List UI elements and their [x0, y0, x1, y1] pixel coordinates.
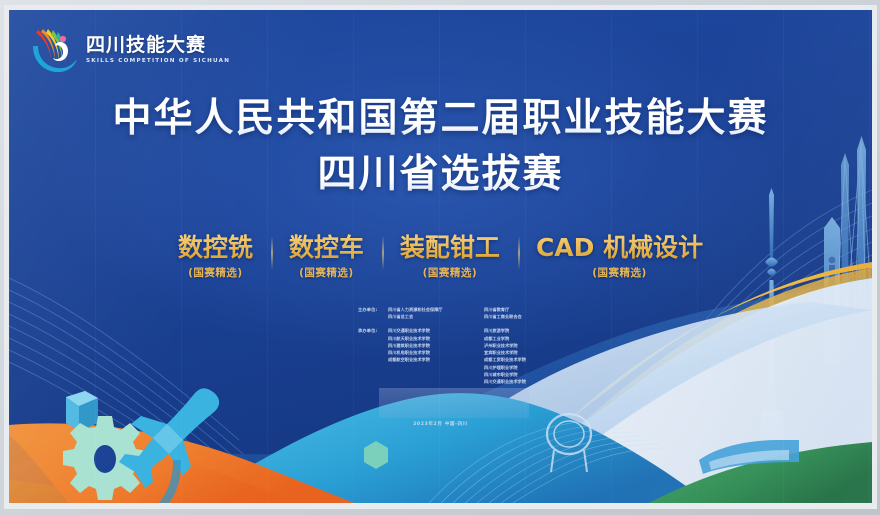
category-name: 数控铣: [178, 234, 253, 262]
sponsor-entry: 四川省总工会: [388, 313, 484, 320]
organizer-entry: 成都工业学院: [484, 335, 526, 342]
headline-line-1: 中华人民共和国第二届职业技能大赛: [9, 96, 872, 142]
organizer-label: 承办单位:: [358, 327, 388, 385]
sichuan-skills-flame-logo-icon: [29, 24, 79, 76]
organizer-right-column: 四川旅游学院 成都工业学院 泸州职业技术学院 宜宾职业技术学院 成都工贸职业技术…: [484, 327, 526, 385]
category-note: (国赛精选): [289, 265, 364, 280]
sponsor-entry: 四川省教育厅: [484, 306, 522, 313]
organizer-entry: 泸州职业技术学院: [484, 342, 526, 349]
headline-line-2: 四川省选拔赛: [9, 152, 872, 198]
organizer-entry: 四川建筑职业技术学院: [388, 342, 484, 349]
sponsor-left-column: 四川省人力资源和社会保障厅 四川省总工会: [388, 306, 484, 320]
organizer-entry: 四川交通职业技术学院: [388, 327, 484, 334]
lower-light-panel: [379, 388, 529, 418]
category-note: (国赛精选): [400, 265, 500, 280]
category-item-1: 数控车 (国赛精选): [271, 234, 382, 280]
page-title: 中华人民共和国第二届职业技能大赛 四川省选拔赛: [9, 96, 872, 198]
category-name: 装配钳工: [400, 234, 500, 262]
category-name: CAD 机械设计: [536, 234, 703, 262]
sponsor-block: 主办单位: 四川省人力资源和社会保障厅 四川省总工会 四川省教育厅 四川省工商业…: [358, 306, 608, 320]
organizer-entry: 四川航天职业技术学院: [388, 335, 484, 342]
sponsor-right-column: 四川省教育厅 四川省工商业联合会: [484, 306, 522, 320]
organizer-entry: 四川机电职业技术学院: [388, 349, 484, 356]
logo-english-name: SKILLS COMPETITION OF SICHUAN: [86, 58, 230, 64]
organizer-entry: 四川护理职业学院: [484, 364, 526, 371]
category-note: (国赛精选): [178, 265, 253, 280]
category-item-2: 装配钳工 (国赛精选): [382, 234, 518, 280]
organizer-left-column: 四川交通职业技术学院 四川航天职业技术学院 四川建筑职业技术学院 四川机电职业技…: [388, 327, 484, 385]
category-note: (国赛精选): [536, 265, 703, 280]
sponsor-entry: 四川省工商业联合会: [484, 313, 522, 320]
screenshot-root: 四川技能大赛 SKILLS COMPETITION OF SICHUAN 中华人…: [0, 0, 880, 515]
category-item-3: CAD 机械设计 (国赛精选): [518, 234, 721, 280]
organizer-entry: 成都航空职业技术学院: [388, 356, 484, 363]
category-item-0: 数控铣 (国赛精选): [160, 234, 271, 280]
competition-category-list: 数控铣 (国赛精选) 数控车 (国赛精选) 装配钳工 (国赛精选) CAD 机械…: [9, 234, 872, 280]
organizer-entry: 成都工贸职业技术学院: [484, 356, 526, 363]
logo-chinese-name: 四川技能大赛: [86, 36, 230, 56]
organizer-entry: 宜宾职业技术学院: [484, 349, 526, 356]
event-datestamp: 2023年2月 中国·四川: [9, 421, 872, 427]
credits-block: 主办单位: 四川省人力资源和社会保障厅 四川省总工会 四川省教育厅 四川省工商业…: [358, 306, 608, 392]
sponsor-label: 主办单位:: [358, 306, 388, 320]
organizer-entry: 四川交通职业技术学院: [484, 378, 526, 385]
sponsor-entry: 四川省人力资源和社会保障厅: [388, 306, 484, 313]
organizer-block: 承办单位: 四川交通职业技术学院 四川航天职业技术学院 四川建筑职业技术学院 四…: [358, 327, 608, 385]
event-backdrop-board: 四川技能大赛 SKILLS COMPETITION OF SICHUAN 中华人…: [9, 10, 872, 503]
organizer-entry: 四川旅游学院: [484, 327, 526, 334]
organizer-entry: 四川城市职业学院: [484, 371, 526, 378]
category-name: 数控车: [289, 234, 364, 262]
competition-logo: 四川技能大赛 SKILLS COMPETITION OF SICHUAN: [29, 24, 230, 76]
